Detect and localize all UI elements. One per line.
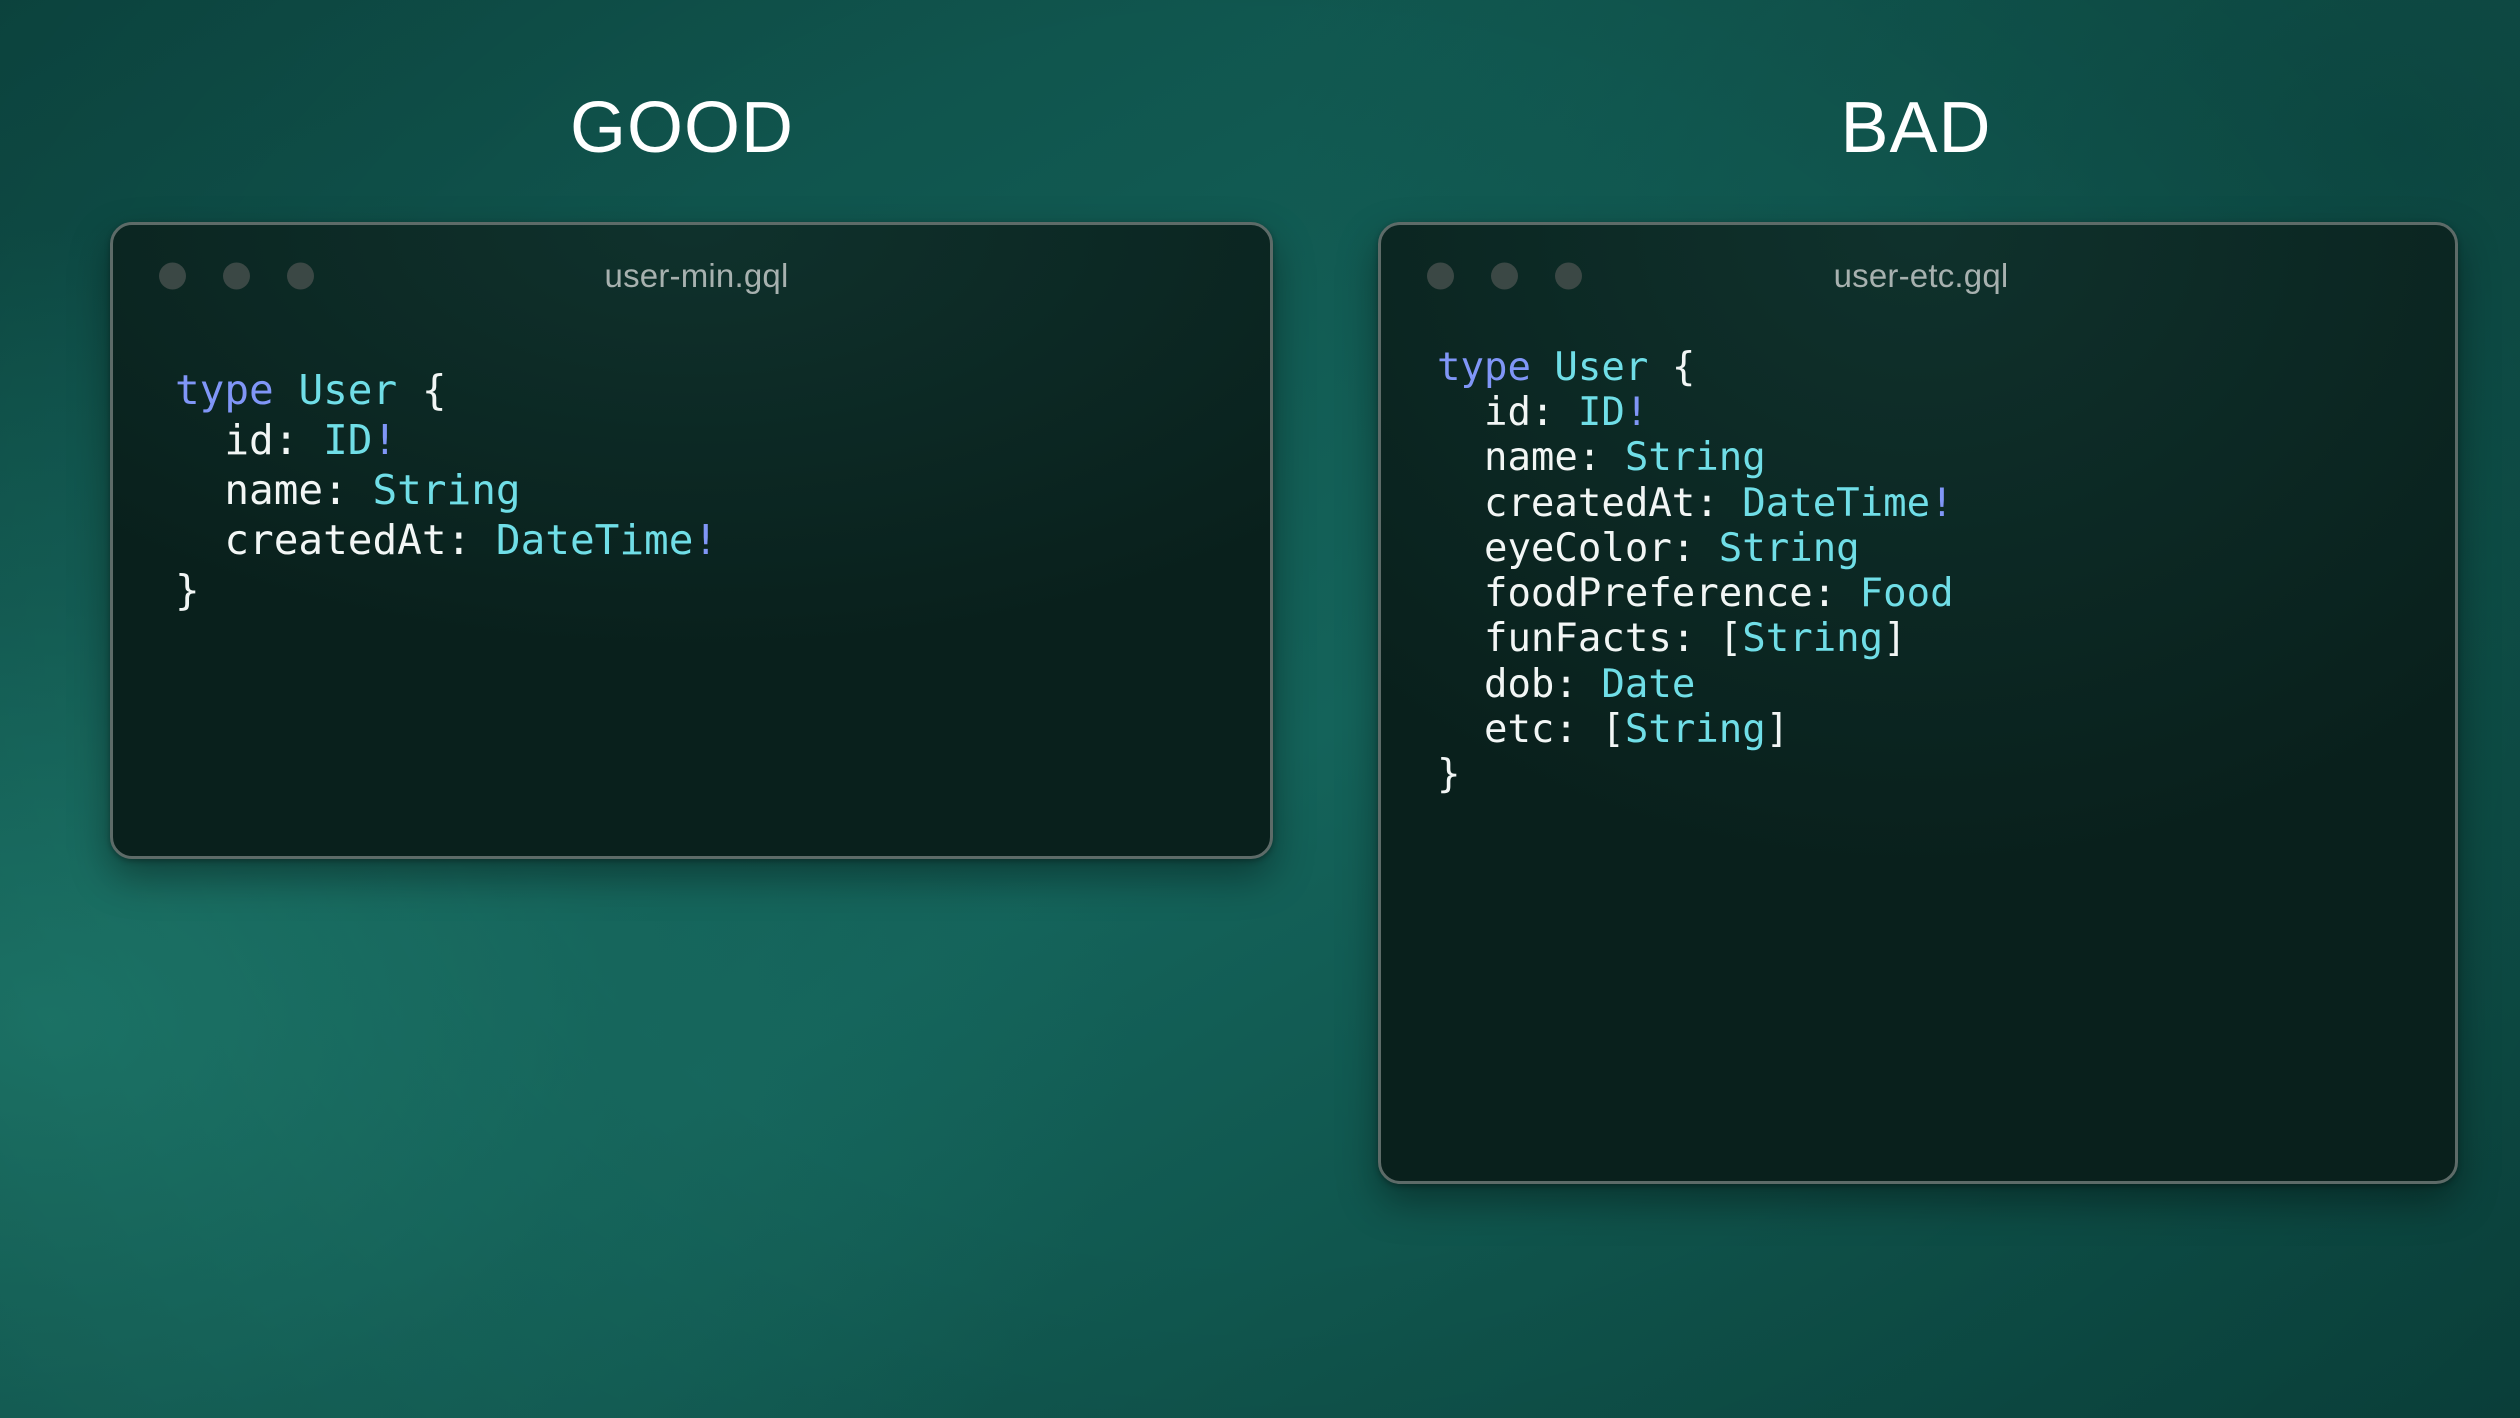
code-token: foodPreference <box>1437 571 1813 616</box>
code-token: { <box>1672 345 1695 390</box>
code-line: type User { <box>1437 345 2455 390</box>
code-token: ! <box>693 516 718 564</box>
panel-heading-bad: BAD <box>1840 92 1991 164</box>
code-token: } <box>175 566 200 614</box>
code-block-good: type User { id: ID! name: String created… <box>113 327 1270 615</box>
panel-heading-good: GOOD <box>570 92 794 164</box>
code-token: : <box>1531 390 1578 435</box>
code-token: : <box>1672 616 1719 661</box>
code-token: { <box>422 366 447 414</box>
code-token: ID <box>323 416 372 464</box>
code-line: dob: Date <box>1437 662 2455 707</box>
traffic-light-maximize-icon[interactable] <box>1555 263 1582 290</box>
code-line: id: ID! <box>175 415 1270 465</box>
code-token: Date <box>1601 662 1695 707</box>
code-window-good: user-min.gql type User { id: ID! name: S… <box>110 222 1273 859</box>
code-token: Food <box>1860 571 1954 616</box>
code-line: foodPreference: Food <box>1437 571 2455 616</box>
code-token: DateTime <box>496 516 693 564</box>
code-token: ! <box>373 416 398 464</box>
traffic-lights-bad <box>1427 263 1582 290</box>
code-token: createdAt <box>175 516 447 564</box>
code-token: ID <box>1578 390 1625 435</box>
code-token: type <box>175 366 274 414</box>
comparison-stage: GOOD user-min.gql type User { id: ID! na… <box>0 0 2520 1418</box>
code-token <box>274 366 299 414</box>
code-line: } <box>175 565 1270 615</box>
code-line: name: String <box>1437 435 2455 480</box>
code-token: [ <box>1719 616 1742 661</box>
code-token: id <box>175 416 274 464</box>
code-token: : <box>323 466 372 514</box>
code-token: String <box>1625 435 1766 480</box>
code-token: : <box>1554 662 1601 707</box>
code-token: type <box>1437 345 1531 390</box>
traffic-light-minimize-icon[interactable] <box>223 263 250 290</box>
code-token: [ <box>1601 707 1624 752</box>
code-token <box>1648 345 1671 390</box>
code-block-bad: type User { id: ID! name: String created… <box>1381 327 2455 797</box>
traffic-light-maximize-icon[interactable] <box>287 263 314 290</box>
code-token <box>1531 345 1554 390</box>
code-token: ] <box>1766 707 1789 752</box>
code-token: eyeColor <box>1437 526 1672 571</box>
code-token: : <box>274 416 323 464</box>
code-line: etc: [String] <box>1437 707 2455 752</box>
code-token: DateTime <box>1742 481 1930 526</box>
traffic-lights-good <box>159 263 314 290</box>
code-line: createdAt: DateTime! <box>1437 481 2455 526</box>
code-token: etc <box>1437 707 1554 752</box>
code-token: String <box>1719 526 1860 571</box>
code-token: String <box>1625 707 1766 752</box>
code-token: name <box>175 466 323 514</box>
code-token: : <box>1813 571 1860 616</box>
window-titlebar-good: user-min.gql <box>113 225 1270 327</box>
code-token: User <box>1554 345 1648 390</box>
code-line: id: ID! <box>1437 390 2455 435</box>
code-token: : <box>1695 481 1742 526</box>
code-token: User <box>298 366 397 414</box>
traffic-light-close-icon[interactable] <box>159 263 186 290</box>
code-line: funFacts: [String] <box>1437 616 2455 661</box>
code-token: createdAt <box>1437 481 1695 526</box>
code-token: : <box>1672 526 1719 571</box>
code-line: eyeColor: String <box>1437 526 2455 571</box>
code-line: createdAt: DateTime! <box>175 515 1270 565</box>
code-line: } <box>1437 752 2455 797</box>
window-titlebar-bad: user-etc.gql <box>1381 225 2455 327</box>
code-token: String <box>372 466 520 514</box>
code-token: funFacts <box>1437 616 1672 661</box>
code-line: type User { <box>175 365 1270 415</box>
traffic-light-close-icon[interactable] <box>1427 263 1454 290</box>
code-token: : <box>1554 707 1601 752</box>
traffic-light-minimize-icon[interactable] <box>1491 263 1518 290</box>
code-token: ! <box>1625 390 1648 435</box>
code-token: String <box>1742 616 1883 661</box>
code-line: name: String <box>175 465 1270 515</box>
code-token: ! <box>1930 481 1953 526</box>
code-token: name <box>1437 435 1578 480</box>
code-token: : <box>1578 435 1625 480</box>
code-token <box>397 366 422 414</box>
code-token: id <box>1437 390 1531 435</box>
code-token: : <box>447 516 496 564</box>
code-token: } <box>1437 752 1460 797</box>
code-window-bad: user-etc.gql type User { id: ID! name: S… <box>1378 222 2458 1184</box>
code-token: ] <box>1883 616 1906 661</box>
code-token: dob <box>1437 662 1554 707</box>
